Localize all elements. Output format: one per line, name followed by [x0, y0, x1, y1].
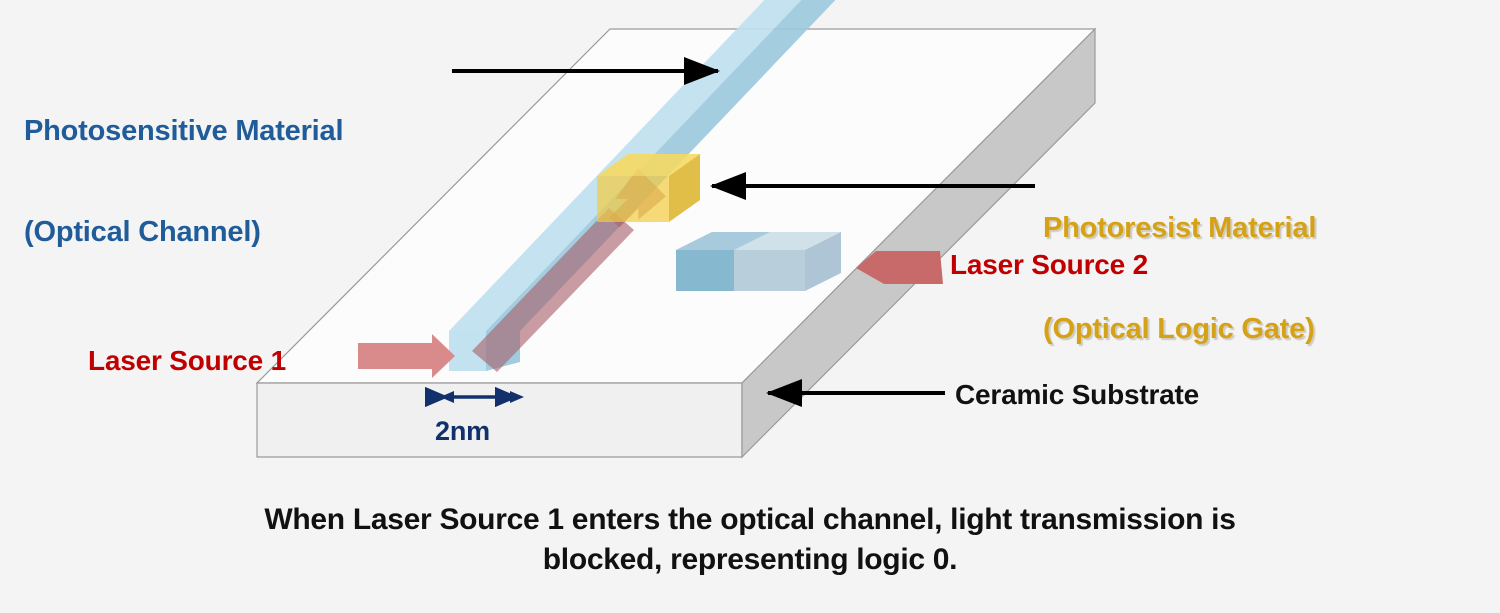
label-photosensitive-line1: Photosensitive Material — [24, 115, 343, 149]
diagram-caption: When Laser Source 1 enters the optical c… — [120, 500, 1380, 580]
caption-line-2: blocked, representing logic 0. — [120, 540, 1380, 580]
label-ceramic-substrate: Ceramic Substrate — [955, 379, 1199, 411]
gate-front-face — [597, 176, 669, 222]
label-laser-source-2: Laser Source 2 — [950, 249, 1148, 281]
label-dimension-2nm: 2nm — [435, 416, 490, 447]
diagram-canvas: Photosensitive Material (Optical Channel… — [0, 0, 1500, 613]
secondary-optical-channel-box — [676, 232, 841, 291]
label-photoresist-line1: Photoresist Material — [1043, 212, 1316, 246]
secondary-box-front-right — [734, 250, 805, 291]
caption-line-1: When Laser Source 1 enters the optical c… — [120, 500, 1380, 540]
label-laser-source-1: Laser Source 1 — [88, 345, 286, 377]
label-photoresist-line2: (Optical Logic Gate) — [1043, 313, 1316, 347]
label-photosensitive-line2: (Optical Channel) — [24, 216, 343, 250]
label-photosensitive-material: Photosensitive Material (Optical Channel… — [24, 48, 343, 317]
secondary-box-front-left — [676, 250, 734, 291]
substrate-front-face — [257, 383, 742, 457]
